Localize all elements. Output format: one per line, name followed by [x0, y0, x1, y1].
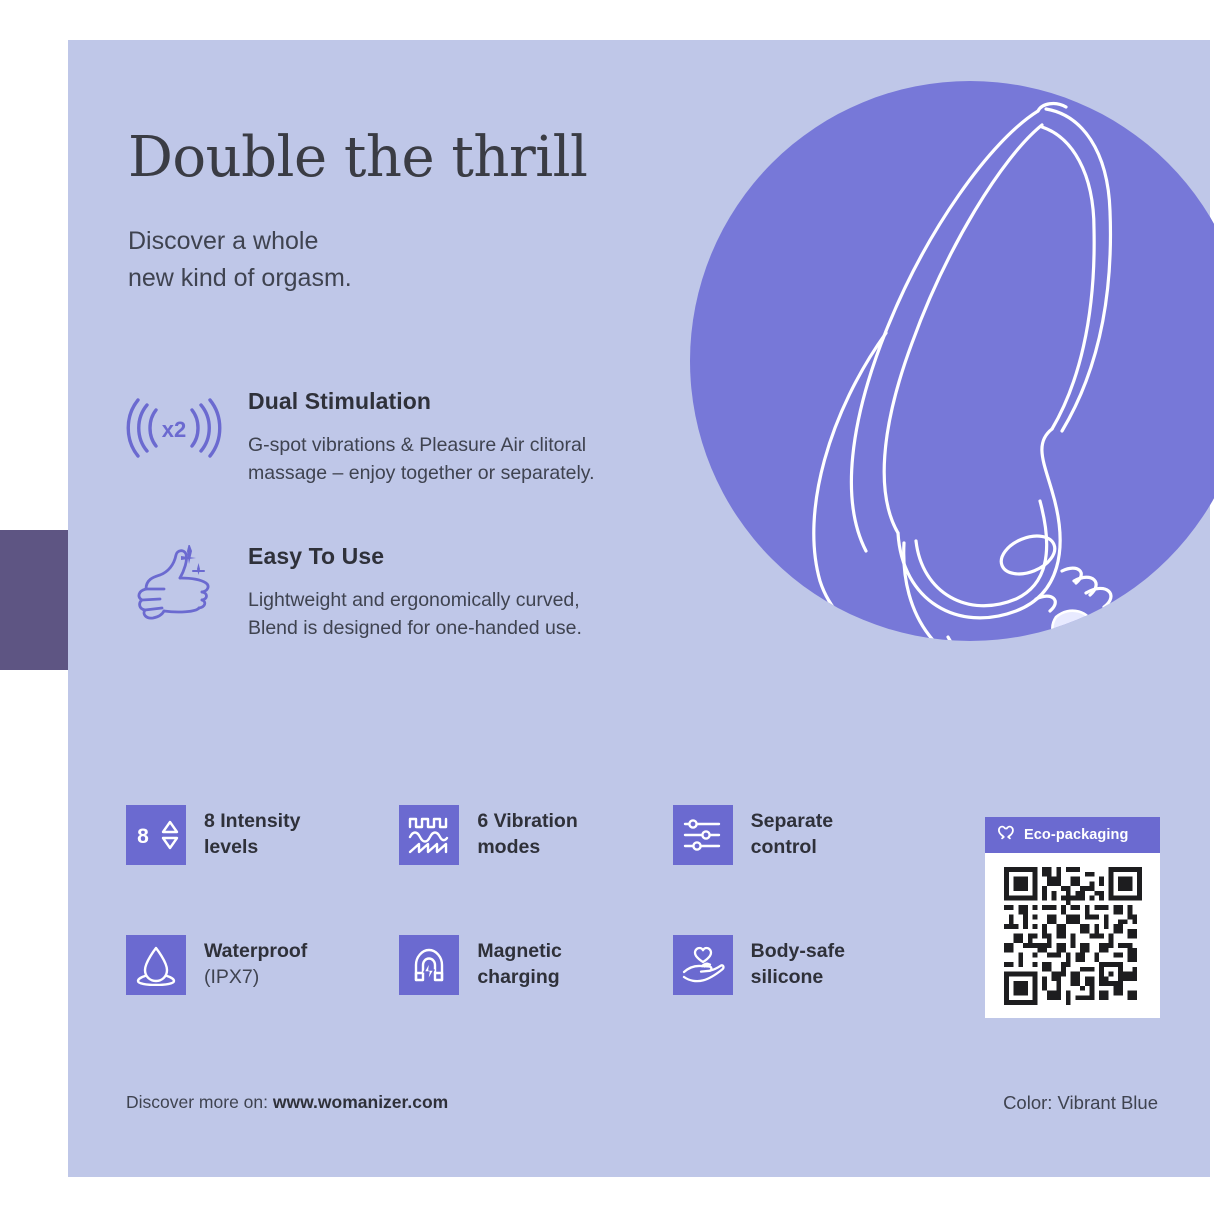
spec-label: Separate control [751, 809, 833, 860]
feature-title: Dual Stimulation [248, 388, 726, 415]
spec-label-line-1: Separate [751, 809, 833, 835]
vibration-x2-label: x2 [162, 417, 186, 442]
recycle-heart-icon [996, 824, 1016, 847]
page-subtitle: Discover a whole new kind of orgasm. [128, 223, 352, 297]
spec-separate-control: Separate control [673, 805, 946, 865]
feature-dual-stimulation: x2 Dual Stimulation G-spot vibrations & … [126, 388, 726, 488]
feature-description: G-spot vibrations & Pleasure Air clitora… [248, 431, 726, 488]
spec-intensity-levels: 8 8 Intensity levels [126, 805, 399, 865]
spec-label: Waterproof (IPX7) [204, 939, 307, 990]
thumbs-up-sparkle-icon [126, 545, 222, 621]
spec-label-line-2: silicone [751, 965, 845, 991]
eco-packaging-label: Eco-packaging [1024, 827, 1128, 843]
spec-label-line-1: Body-safe [751, 939, 845, 965]
qr-code[interactable] [1004, 867, 1142, 1005]
spec-magnetic-charging: Magnetic charging [399, 935, 672, 995]
feature-body: Dual Stimulation G-spot vibrations & Ple… [248, 388, 726, 488]
subtitle-line-1: Discover a whole [128, 223, 352, 260]
spec-vibration-modes: 6 Vibration modes [399, 805, 672, 865]
feature-desc-line-1: G-spot vibrations & Pleasure Air clitora… [248, 431, 726, 459]
feature-desc-line-1: Lightweight and ergonomically curved, [248, 586, 726, 614]
spec-label: 8 Intensity levels [204, 809, 300, 860]
water-drop-icon [126, 935, 186, 995]
vibration-modes-waveform-icon [399, 805, 459, 865]
spec-label-line-1: 8 Intensity [204, 809, 300, 835]
intensity-level-value: 8 [137, 825, 149, 848]
spec-row-1: 8 8 Intensity levels [126, 805, 946, 865]
color-label: Color: Vibrant Blue [1003, 1092, 1158, 1114]
spec-label-line-1: 6 Vibration [477, 809, 577, 835]
page-title: Double the thrill [128, 125, 587, 190]
website-url[interactable]: www.womanizer.com [273, 1092, 448, 1112]
spec-label-line-2: charging [477, 965, 562, 991]
eco-packaging-badge: Eco-packaging [985, 817, 1160, 853]
spec-label-line-2: levels [204, 835, 300, 861]
package-panel: Double the thrill Discover a whole new k… [68, 40, 1210, 1177]
sliders-icon [673, 805, 733, 865]
spec-label-line-2: (IPX7) [204, 965, 307, 991]
intensity-levels-icon: 8 [126, 805, 186, 865]
feature-easy-to-use: Easy To Use Lightweight and ergonomicall… [126, 543, 726, 643]
spec-label-line-1: Magnetic [477, 939, 562, 965]
feature-description: Lightweight and ergonomically curved, Bl… [248, 586, 726, 643]
package-back-panel-image: Double the thrill Discover a whole new k… [0, 0, 1214, 1214]
feature-desc-line-2: massage – enjoy together or separately. [248, 459, 726, 487]
subtitle-line-2: new kind of orgasm. [128, 260, 352, 297]
spec-label-line-2: control [751, 835, 833, 861]
vibration-x2-icon: x2 [126, 390, 222, 466]
spec-label: Body-safe silicone [751, 939, 845, 990]
eco-packaging-block: Eco-packaging [985, 817, 1160, 1018]
spec-grid: 8 8 Intensity levels [126, 805, 946, 1065]
spec-label: 6 Vibration modes [477, 809, 577, 860]
discover-more-footer: Discover more on: www.womanizer.com [126, 1092, 448, 1113]
discover-more-prefix: Discover more on: [126, 1092, 273, 1112]
hand-heart-icon [673, 935, 733, 995]
product-line-art-icon [690, 81, 1214, 641]
magnet-bolt-icon [399, 935, 459, 995]
product-illustration-circle [690, 81, 1214, 641]
spec-label: Magnetic charging [477, 939, 562, 990]
package-side-tab [0, 530, 70, 670]
spec-body-safe-silicone: Body-safe silicone [673, 935, 946, 995]
spec-label-line-2: modes [477, 835, 577, 861]
spec-waterproof: Waterproof (IPX7) [126, 935, 399, 995]
qr-code-card[interactable] [985, 853, 1160, 1018]
spec-label-line-1: Waterproof [204, 939, 307, 965]
feature-desc-line-2: Blend is designed for one-handed use. [248, 614, 726, 642]
feature-title: Easy To Use [248, 543, 726, 570]
feature-body: Easy To Use Lightweight and ergonomicall… [248, 543, 726, 643]
spec-row-2: Waterproof (IPX7) [126, 935, 946, 995]
